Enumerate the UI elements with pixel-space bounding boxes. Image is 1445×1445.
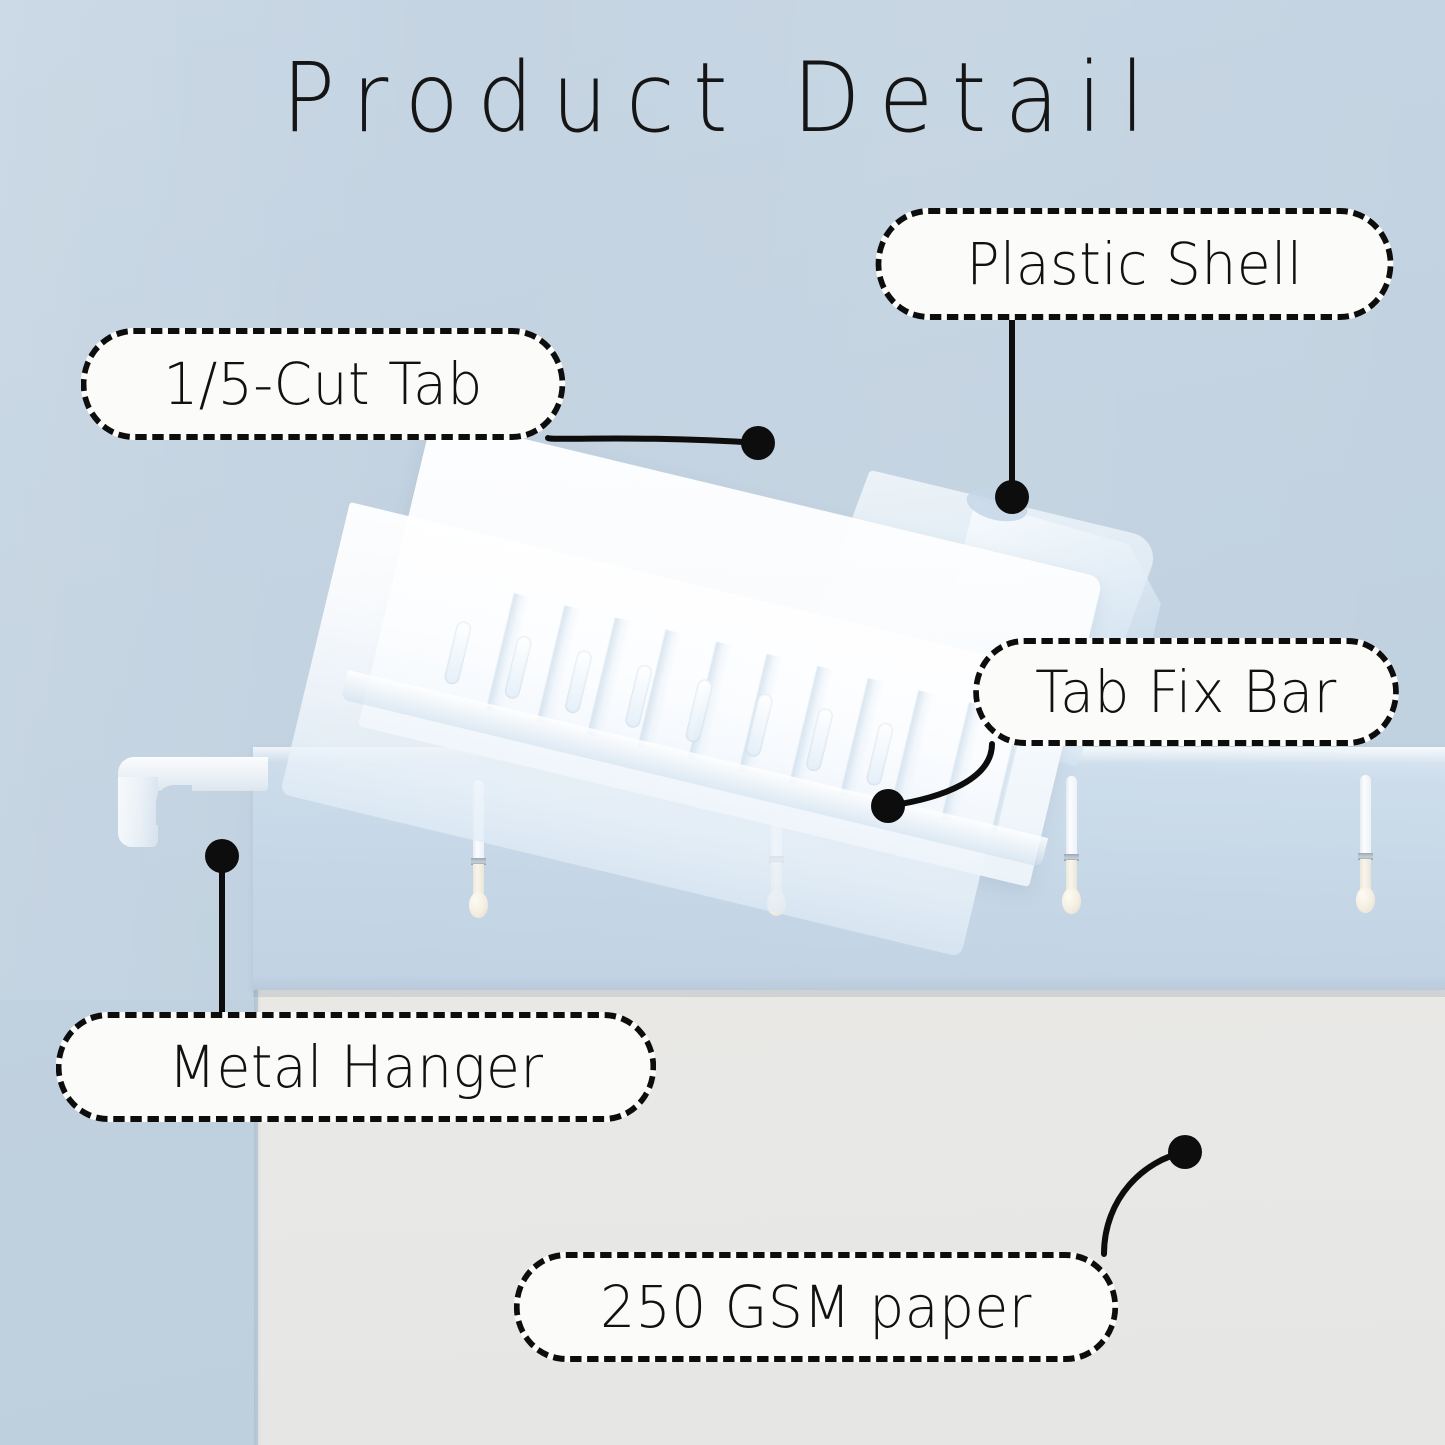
shell-slot bbox=[564, 649, 594, 715]
callout-plastic-shell[interactable]: Plastic Shell bbox=[876, 208, 1394, 320]
callout-label: Tab Fix Bar bbox=[1035, 658, 1337, 726]
shell-slot bbox=[684, 678, 714, 744]
shell-slot bbox=[865, 721, 895, 787]
tab-fix-bar-shadow bbox=[253, 975, 1445, 997]
shell-slot bbox=[744, 692, 774, 758]
callout-label: Metal Hanger bbox=[168, 1033, 543, 1101]
callout-250-gsm-paper[interactable]: 250 GSM paper bbox=[514, 1252, 1118, 1362]
callout-tab-fix-bar[interactable]: Tab Fix Bar bbox=[973, 638, 1399, 746]
shell-slot bbox=[624, 663, 654, 729]
callout-label: Plastic Shell bbox=[966, 230, 1302, 298]
shell-slot bbox=[805, 707, 835, 773]
page-title: Product Detail bbox=[58, 42, 1387, 154]
callout-one-fifth-cut-tab[interactable]: 1/5-Cut Tab bbox=[81, 328, 566, 440]
shell-slot bbox=[503, 634, 533, 700]
metal-hanger-hook bbox=[118, 757, 268, 847]
callout-metal-hanger[interactable]: Metal Hanger bbox=[56, 1012, 656, 1122]
hanger-downturn bbox=[118, 777, 158, 847]
callout-label: 1/5-Cut Tab bbox=[163, 350, 483, 418]
callout-label: 250 GSM paper bbox=[600, 1273, 1032, 1341]
pin-stem bbox=[1360, 775, 1371, 857]
hanger-inner-cut bbox=[156, 785, 192, 825]
product-detail-infographic: Product Detail Plastic Shell1/5-Cut TabT… bbox=[0, 0, 1445, 1445]
pin-bulb bbox=[1356, 887, 1375, 913]
